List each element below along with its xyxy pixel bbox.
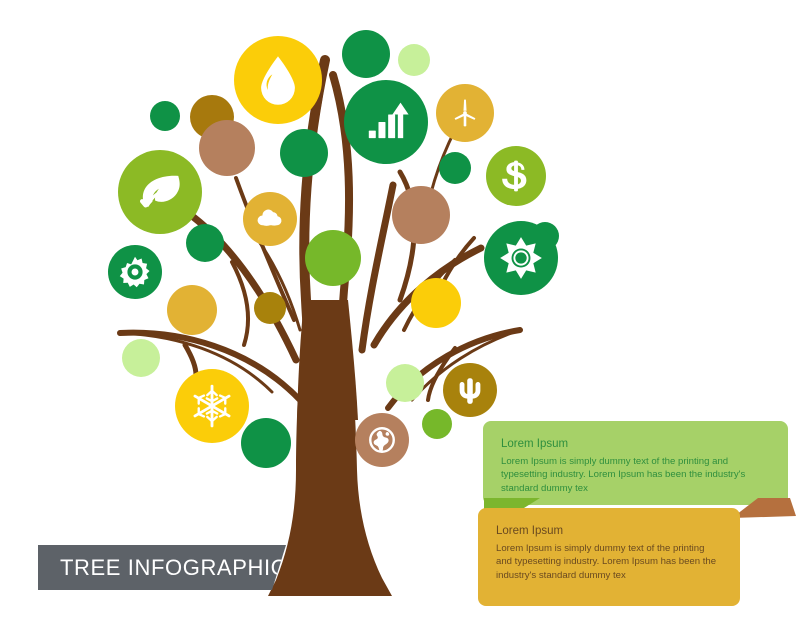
title-banner: TREE INFOGRAPHIC bbox=[38, 545, 286, 590]
leaf-circle bbox=[386, 364, 424, 402]
leaf-circle bbox=[150, 101, 180, 131]
leaf-circle bbox=[254, 292, 286, 324]
leaf-circle bbox=[342, 30, 390, 78]
wind-turbine-icon-node[interactable] bbox=[436, 84, 494, 142]
leaf-circle bbox=[186, 224, 224, 262]
sun-icon bbox=[500, 237, 542, 279]
leaf-circle bbox=[439, 152, 471, 184]
cloud-icon-node[interactable] bbox=[243, 192, 297, 246]
callout-green-body: Lorem Ipsum is simply dummy text of the … bbox=[501, 455, 769, 497]
snowflake-icon-node[interactable] bbox=[175, 369, 249, 443]
sun-icon-node[interactable] bbox=[484, 221, 558, 295]
bar-chart-growth-icon-background bbox=[344, 80, 428, 164]
callout-gold-body: Lorem Ipsum is simply dummy text of the … bbox=[496, 542, 722, 584]
leaf-circle bbox=[411, 278, 461, 328]
callout-gold-title: Lorem Ipsum bbox=[496, 524, 722, 540]
callout-green[interactable]: Lorem Ipsum Lorem Ipsum is simply dummy … bbox=[483, 421, 788, 505]
callout-gold[interactable]: Lorem Ipsum Lorem Ipsum is simply dummy … bbox=[478, 508, 740, 606]
page-title: TREE INFOGRAPHIC bbox=[38, 555, 287, 581]
leaf-circle bbox=[167, 285, 217, 335]
leaf-circle bbox=[241, 418, 291, 468]
leaf-circle bbox=[305, 230, 361, 286]
callout-green-title: Lorem Ipsum bbox=[501, 437, 770, 453]
cactus-icon-node[interactable] bbox=[443, 363, 497, 417]
title-banner-wrap: TREE INFOGRAPHIC bbox=[38, 545, 286, 590]
leaf-circle bbox=[122, 339, 160, 377]
leaf-circle bbox=[280, 129, 328, 177]
gear-icon-node[interactable] bbox=[108, 245, 162, 299]
dollar-sign-icon-node[interactable] bbox=[486, 146, 546, 206]
leaf-circle bbox=[392, 186, 450, 244]
globe-icon-node[interactable] bbox=[355, 413, 409, 467]
infographic-canvas: Lorem Ipsum Lorem Ipsum is simply dummy … bbox=[0, 0, 800, 623]
leaf-circle bbox=[422, 409, 452, 439]
water-drop-icon-node[interactable] bbox=[234, 36, 322, 124]
bar-chart-growth-icon-node[interactable] bbox=[344, 80, 428, 164]
leaf-icon-node[interactable] bbox=[118, 150, 202, 234]
leaf-circle bbox=[398, 44, 430, 76]
leaf-circle bbox=[199, 120, 255, 176]
